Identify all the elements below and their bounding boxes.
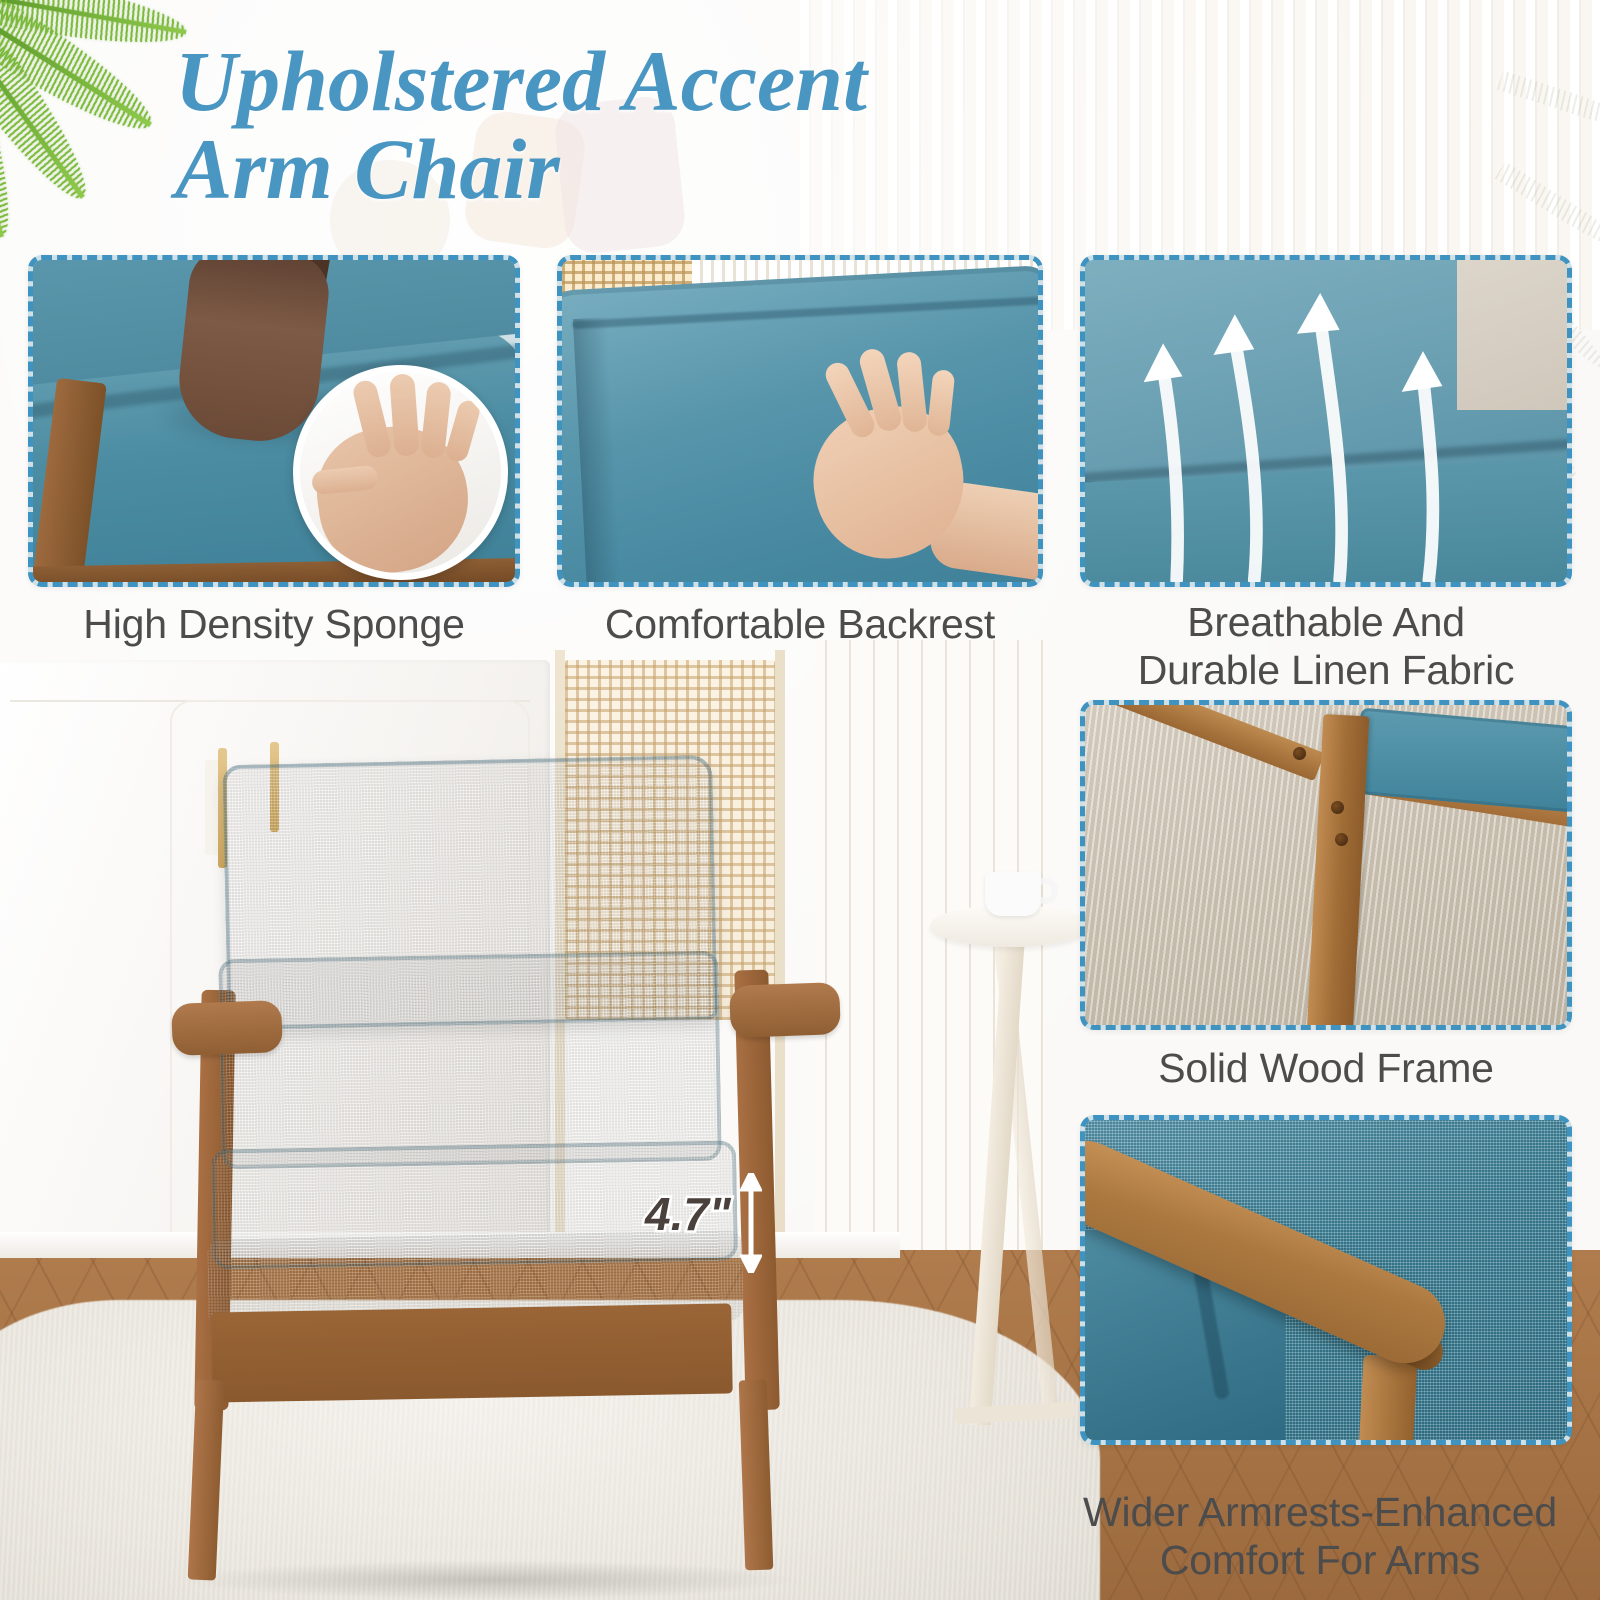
chair-front-apron (211, 1303, 732, 1402)
caption-armrest-line2: Comfort For Arms (1040, 1536, 1600, 1584)
sponge-feature-image (33, 260, 515, 582)
chair-armrest-left (171, 1000, 283, 1056)
foam-closeup-inset (293, 365, 508, 580)
caption-backrest: Comfortable Backrest (557, 600, 1043, 648)
dimension-label: 4.7" (645, 1187, 731, 1241)
caption-armrest-line1: Wider Armrests-Enhanced (1040, 1488, 1600, 1536)
armrest-feature-image (1085, 1120, 1567, 1440)
screw-hole (1293, 747, 1306, 760)
feature-panel-sponge (28, 255, 520, 587)
wood-frame-feature-image (1085, 705, 1567, 1025)
feature-panel-breathable (1080, 255, 1572, 587)
caption-breathable-line2: Durable Linen Fabric (1080, 646, 1572, 694)
airflow-arrows-icon (1085, 260, 1567, 582)
seat-thickness-callout: 4.7" (645, 1165, 775, 1275)
screw-hole (1331, 801, 1344, 814)
caption-armrest: Wider Armrests-Enhanced Comfort For Arms (1040, 1488, 1600, 1585)
screw-hole (1335, 833, 1348, 846)
caption-sponge: High Density Sponge (28, 600, 520, 648)
chair-armrest-right (729, 982, 841, 1038)
page-title-line1: Upholstered Accent (175, 33, 867, 129)
chair-lumbar-cushion (218, 951, 722, 1170)
feature-panel-wood-frame (1080, 700, 1572, 1030)
feature-panel-armrest (1080, 1115, 1572, 1445)
chair-shadow (180, 1560, 800, 1600)
backrest-feature-image (562, 260, 1038, 582)
page-title-line2: Arm Chair (175, 126, 1275, 214)
double-arrow-icon (740, 1173, 762, 1273)
chair-leg-left (188, 1379, 225, 1580)
caption-wood-frame: Solid Wood Frame (1080, 1044, 1572, 1092)
caption-breathable-line1: Breathable And (1080, 598, 1572, 646)
hero-chair-image (150, 740, 850, 1560)
breathable-feature-image (1085, 260, 1567, 582)
fern-leaf (1497, 70, 1600, 135)
feature-panel-backrest (557, 255, 1043, 587)
fern-leaf (1495, 162, 1600, 258)
caption-breathable: Breathable And Durable Linen Fabric (1080, 598, 1572, 695)
page-title: Upholstered Accent Arm Chair (175, 38, 1275, 213)
coffee-cup (985, 872, 1041, 916)
armrest-support-post (1358, 1355, 1417, 1445)
